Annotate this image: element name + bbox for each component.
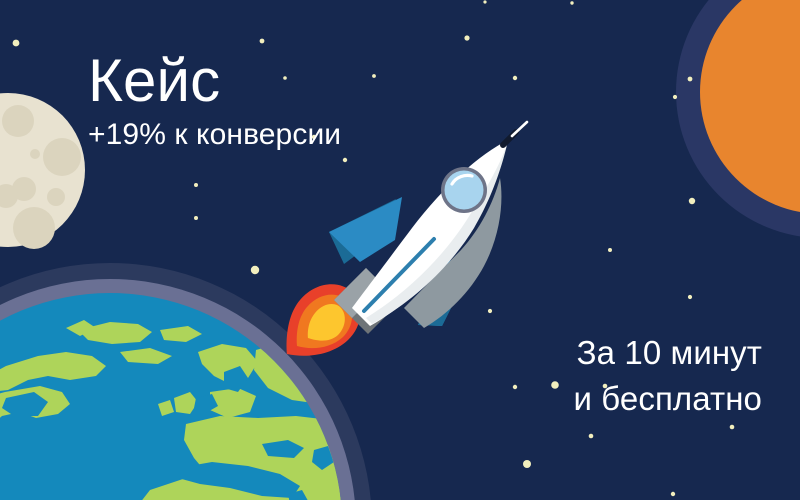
- tagline: За 10 минути бесплатно: [573, 330, 762, 422]
- rocket-window: [441, 167, 487, 213]
- tagline-line-1: За 10 минут: [577, 334, 762, 371]
- space-banner: Кейс +19% к конверсии За 10 минути беспл…: [0, 0, 800, 500]
- tagline-line-2: и бесплатно: [573, 380, 762, 417]
- headline: Кейс: [88, 48, 220, 114]
- subheadline: +19% к конверсии: [88, 116, 341, 154]
